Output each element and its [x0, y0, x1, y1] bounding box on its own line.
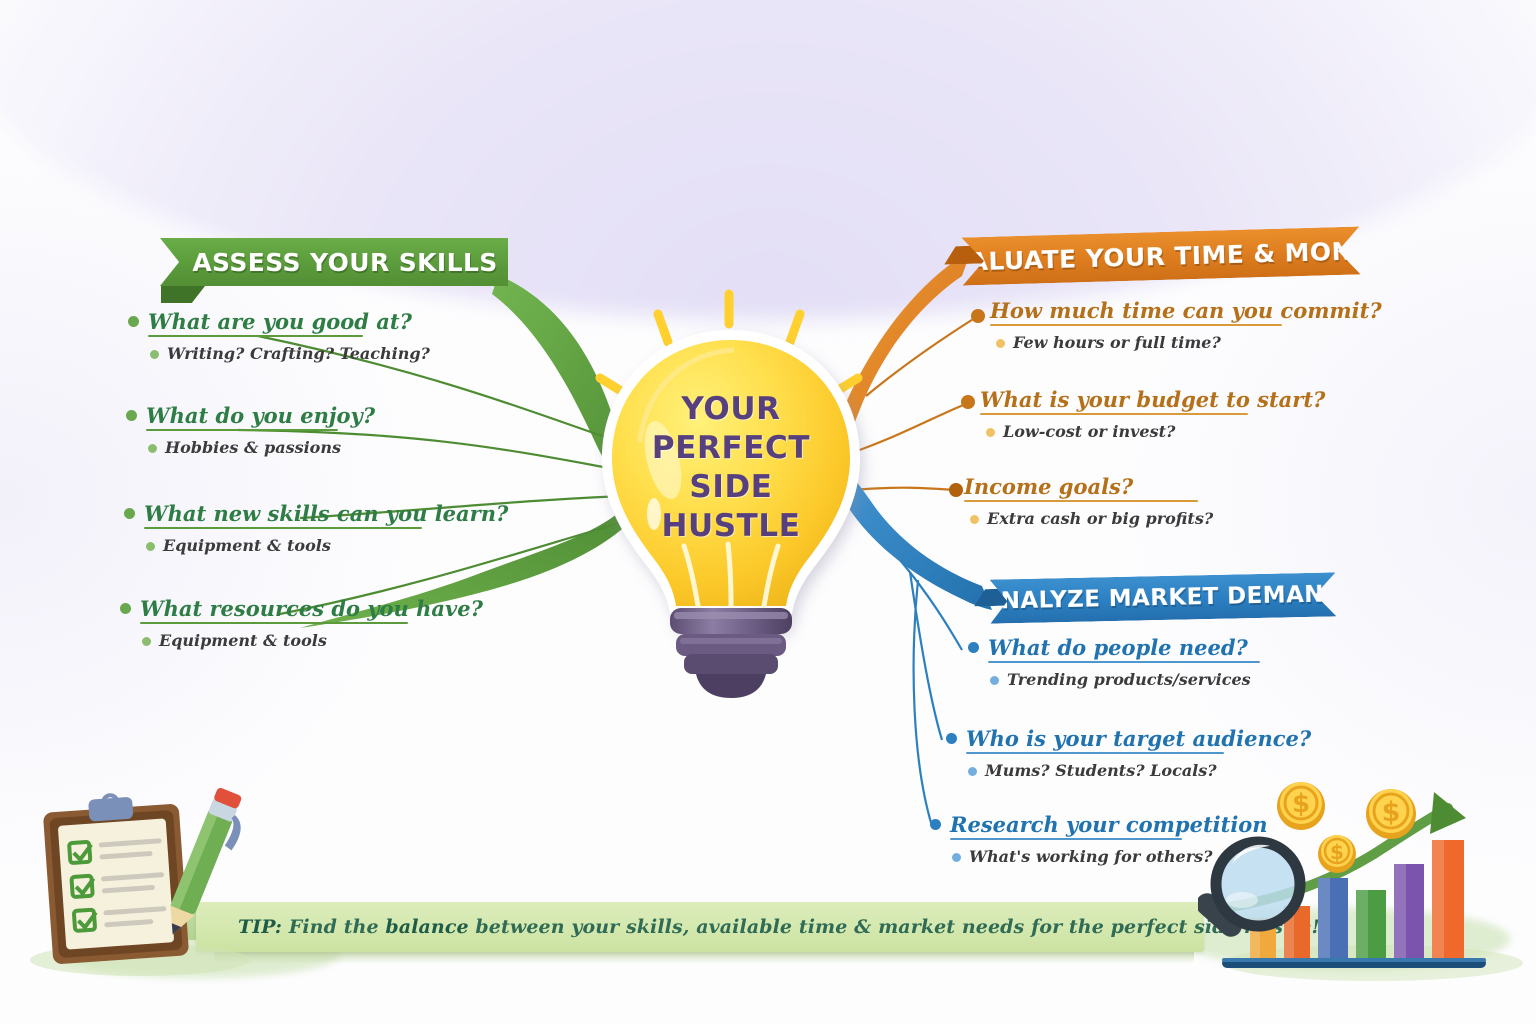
node-skills-2[interactable]: What do you enjoy? Hobbies & passions — [126, 405, 375, 456]
tip-text: TIP: Find the balance between your skill… — [238, 916, 1320, 938]
node-underline — [964, 500, 1198, 502]
node-detail-row: Trending products/services — [990, 672, 1260, 688]
lightbulb-icon — [566, 282, 896, 702]
sub-bullet-icon — [970, 515, 979, 524]
tip-bar-shadow — [214, 952, 1194, 964]
node-detail: Equipment & tools — [163, 538, 331, 554]
sub-bullet-icon — [990, 676, 999, 685]
market-growth-illustration: $ $ $ — [1198, 778, 1528, 983]
node-question: What are you good at? — [148, 311, 412, 332]
bullet-icon — [124, 508, 135, 519]
node-market-2[interactable]: Who is your target audience? Mums? Stude… — [946, 728, 1311, 779]
node-time-money-1[interactable]: How much time can you commit? Few hours … — [990, 300, 1382, 351]
node-underline — [146, 429, 338, 431]
bullet-icon — [946, 733, 957, 744]
sub-bullet-icon — [968, 767, 977, 776]
node-underline — [140, 622, 408, 624]
node-detail: Trending products/services — [1007, 672, 1251, 688]
svg-text:$: $ — [1330, 840, 1344, 864]
node-question: How much time can you commit? — [990, 300, 1382, 321]
node-skills-3[interactable]: What new skills can you learn? Equipment… — [124, 503, 508, 554]
node-underline — [980, 413, 1248, 415]
node-question: What new skills can you learn? — [144, 503, 508, 524]
tip-before: Find the — [282, 916, 385, 938]
node-detail-row: Low-cost or invest? — [986, 424, 1325, 440]
node-detail: Equipment & tools — [159, 633, 327, 649]
sub-bullet-icon — [142, 637, 151, 646]
tip-emphasis: balance — [385, 916, 468, 938]
sub-bullet-icon — [146, 542, 155, 551]
coin-icon: $ — [1277, 782, 1325, 830]
banner-label-time-money: EVALUATE YOUR TIME & MONEY — [933, 235, 1389, 277]
node-detail-row: Few hours or full time? — [996, 335, 1382, 351]
node-skills-4[interactable]: What resources do you have? Equipment & … — [120, 598, 483, 649]
sub-bullet-icon — [986, 428, 995, 437]
bulb-base-icon — [670, 608, 792, 698]
node-question: What is your budget to start? — [980, 389, 1325, 410]
node-market-1[interactable]: What do people need? Trending products/s… — [968, 637, 1260, 688]
bullet-icon — [968, 642, 979, 653]
node-detail: Extra cash or big profits? — [987, 511, 1213, 527]
node-detail: Low-cost or invest? — [1003, 424, 1175, 440]
sub-bullet-icon — [150, 350, 159, 359]
node-time-money-3[interactable]: Income goals? Extra cash or big profits? — [964, 476, 1213, 527]
node-underline — [950, 838, 1182, 840]
node-detail: Writing? Crafting? Teaching? — [167, 346, 430, 362]
sub-bullet-icon — [952, 853, 961, 862]
node-detail: Hobbies & passions — [165, 440, 341, 456]
node-underline — [148, 335, 363, 337]
coin-icon: $ — [1318, 835, 1356, 873]
banner-assess-your-skills[interactable]: ASSESS YOUR SKILLS — [160, 238, 508, 286]
bullet-icon — [126, 410, 137, 421]
node-underline — [966, 752, 1224, 754]
banner-label-skills: ASSESS YOUR SKILLS — [192, 248, 497, 277]
tip-bar: TIP: Find the balance between your skill… — [196, 902, 1204, 952]
node-question: What do you enjoy? — [146, 405, 375, 426]
node-underline — [990, 324, 1282, 326]
node-question: What resources do you have? — [140, 598, 483, 619]
node-detail-row: Hobbies & passions — [148, 440, 375, 456]
node-time-money-2[interactable]: What is your budget to start? Low-cost o… — [980, 389, 1325, 440]
node-skills-1[interactable]: What are you good at? Writing? Crafting?… — [128, 311, 430, 362]
banner-label-market: ANALYZE MARKET DEMAND — [982, 581, 1343, 615]
node-detail: Few hours or full time? — [1013, 335, 1221, 351]
tip-after: between your skills, available time & ma… — [469, 916, 1320, 938]
node-underline — [988, 661, 1260, 663]
node-underline — [144, 527, 422, 529]
node-detail-row: Equipment & tools — [146, 538, 508, 554]
node-detail-row: Equipment & tools — [142, 633, 483, 649]
coin-icon: $ — [1366, 789, 1416, 839]
infographic-canvas: ASSESS YOUR SKILLS EVALUATE YOUR TIME & … — [0, 0, 1536, 1024]
bullet-icon — [128, 316, 139, 327]
node-question: What do people need? — [988, 637, 1248, 658]
clipboard-checklist-icon — [20, 788, 250, 978]
banner-analyze-market-demand[interactable]: ANALYZE MARKET DEMAND — [990, 572, 1337, 623]
node-detail-row: Writing? Crafting? Teaching? — [150, 346, 430, 362]
svg-text:$: $ — [1382, 797, 1401, 828]
node-detail: What's working for others? — [969, 849, 1213, 865]
node-detail-row: Mums? Students? Locals? — [968, 763, 1311, 779]
svg-text:$: $ — [1292, 789, 1310, 819]
sub-bullet-icon — [148, 444, 157, 453]
node-detail: Mums? Students? Locals? — [985, 763, 1217, 779]
node-detail-row: Extra cash or big profits? — [970, 511, 1213, 527]
bullet-icon — [120, 603, 131, 614]
node-question: Who is your target audience? — [966, 728, 1311, 749]
bullet-icon — [930, 819, 941, 830]
node-question: Income goals? — [964, 476, 1133, 497]
sub-bullet-icon — [996, 339, 1005, 348]
